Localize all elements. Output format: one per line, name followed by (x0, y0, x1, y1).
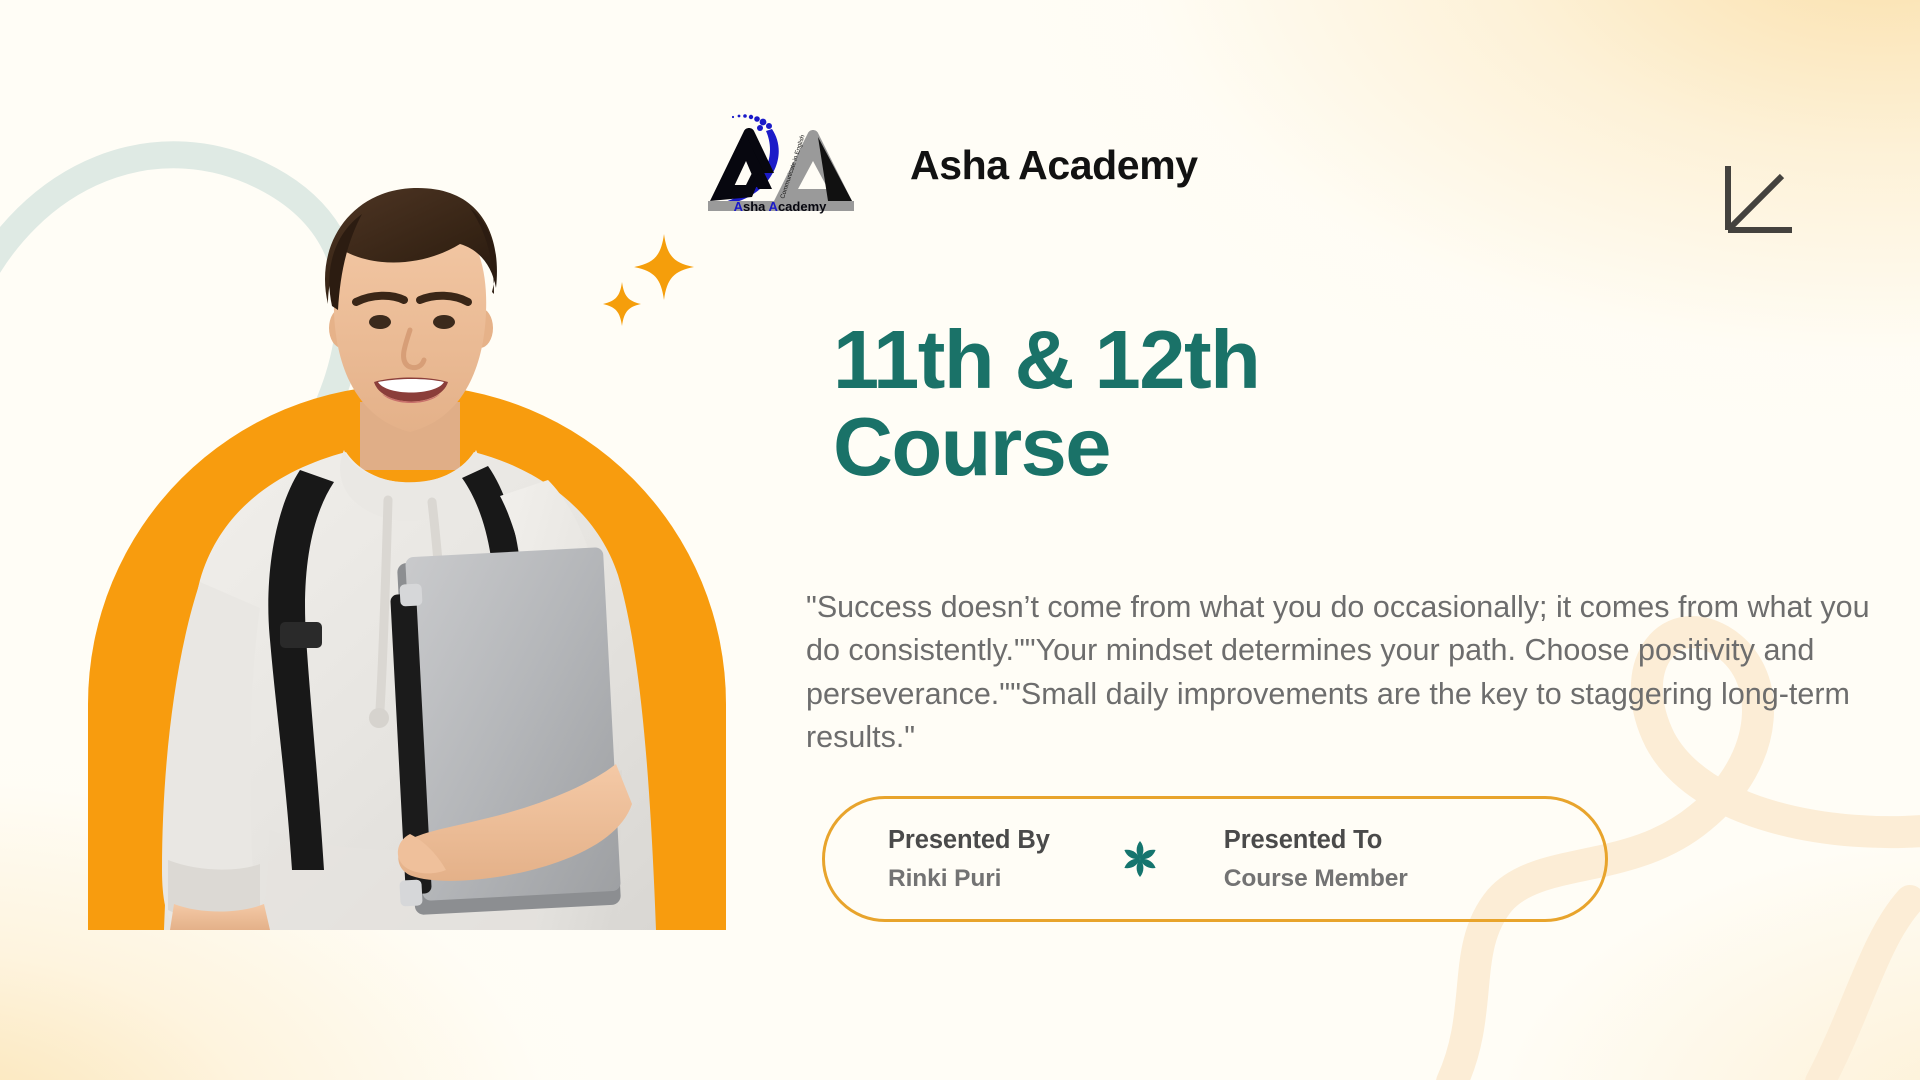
presented-by-value: Rinki Puri (888, 862, 1050, 895)
asha-academy-logo-icon: Communicate in English Asha Academy (700, 105, 880, 225)
title-line-2: Course (833, 403, 1633, 490)
quote-text: "Success doesn’t come from what you do o… (806, 586, 1878, 759)
presentation-slide: Communicate in English Asha Academy Asha… (0, 0, 1920, 1080)
arrow-down-left-icon[interactable] (1720, 160, 1798, 238)
presented-to-label: Presented To (1224, 823, 1408, 857)
presented-by-block: Presented By Rinki Puri (888, 823, 1050, 894)
presented-to-value: Course Member (1224, 862, 1408, 895)
sparkle-icon (596, 222, 706, 332)
brand-name: Asha Academy (910, 142, 1198, 189)
flower-asterisk-icon (1114, 833, 1166, 885)
brand-header: Communicate in English Asha Academy Asha… (700, 105, 1198, 225)
logo-wordmark-text: Asha Academy (734, 199, 828, 214)
title-line-1: 11th & 12th (833, 316, 1633, 403)
presented-pill: Presented By Rinki Puri Presented To Cou… (822, 796, 1608, 922)
presented-to-block: Presented To Course Member (1224, 823, 1408, 894)
page-title: 11th & 12th Course (833, 316, 1633, 490)
presented-by-label: Presented By (888, 823, 1050, 857)
